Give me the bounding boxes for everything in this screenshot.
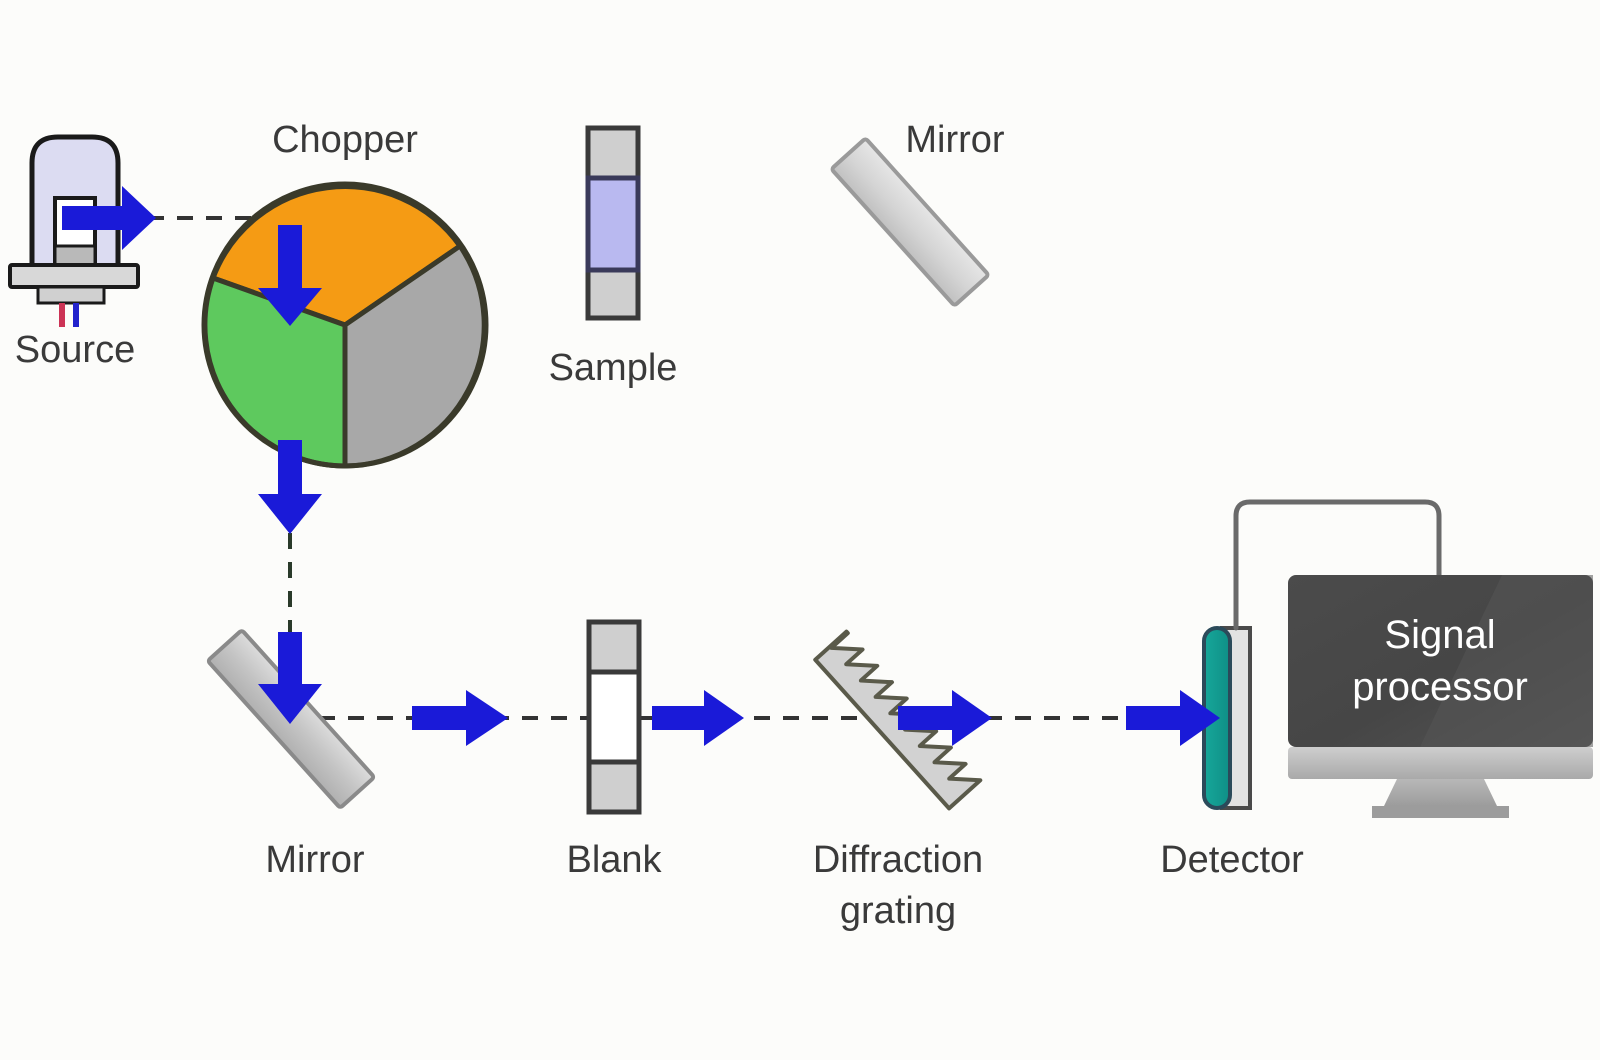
sample-liquid (588, 178, 638, 270)
monitor-bezel (1288, 747, 1593, 779)
diffraction-grating-label-line2: grating (840, 890, 956, 932)
mirror-top[interactable] (831, 138, 988, 306)
chopper-label: Chopper (272, 119, 418, 161)
source-label: Source (15, 329, 135, 371)
chopper-wheel[interactable] (204, 184, 486, 466)
monitor-neck (1384, 779, 1497, 806)
sample-label: Sample (549, 347, 678, 389)
blank-cap-top (589, 622, 639, 672)
blank-cap-bottom (589, 762, 639, 812)
mirror-bottom-label: Mirror (265, 839, 365, 881)
beam-arrow-mirror-to-blank (412, 690, 508, 746)
detector-label: Detector (1160, 839, 1304, 881)
lamp-collar (38, 287, 104, 303)
mirror-top-label: Mirror (905, 119, 1005, 161)
source-lamp[interactable] (10, 137, 138, 327)
blank-cuvette[interactable] (589, 622, 639, 812)
spectrophotometer-diagram: Source Chopper Sample Mirror (0, 0, 1600, 1060)
beam-arrow-blank-to-grating (652, 690, 744, 746)
signal-processor-monitor[interactable]: Signal processor (1288, 575, 1593, 818)
signal-processor-text-line1: Signal (1384, 613, 1495, 657)
monitor-base (1372, 806, 1509, 818)
blank-label: Blank (566, 839, 662, 881)
diagram-canvas: Source Chopper Sample Mirror (0, 0, 1600, 1060)
signal-processor-text-line2: processor (1352, 665, 1528, 709)
lamp-base-plate (10, 265, 138, 287)
sample-cuvette[interactable] (588, 128, 638, 318)
mirror-top-surface (831, 138, 988, 306)
diffraction-grating-label-line1: Diffraction (813, 839, 983, 881)
